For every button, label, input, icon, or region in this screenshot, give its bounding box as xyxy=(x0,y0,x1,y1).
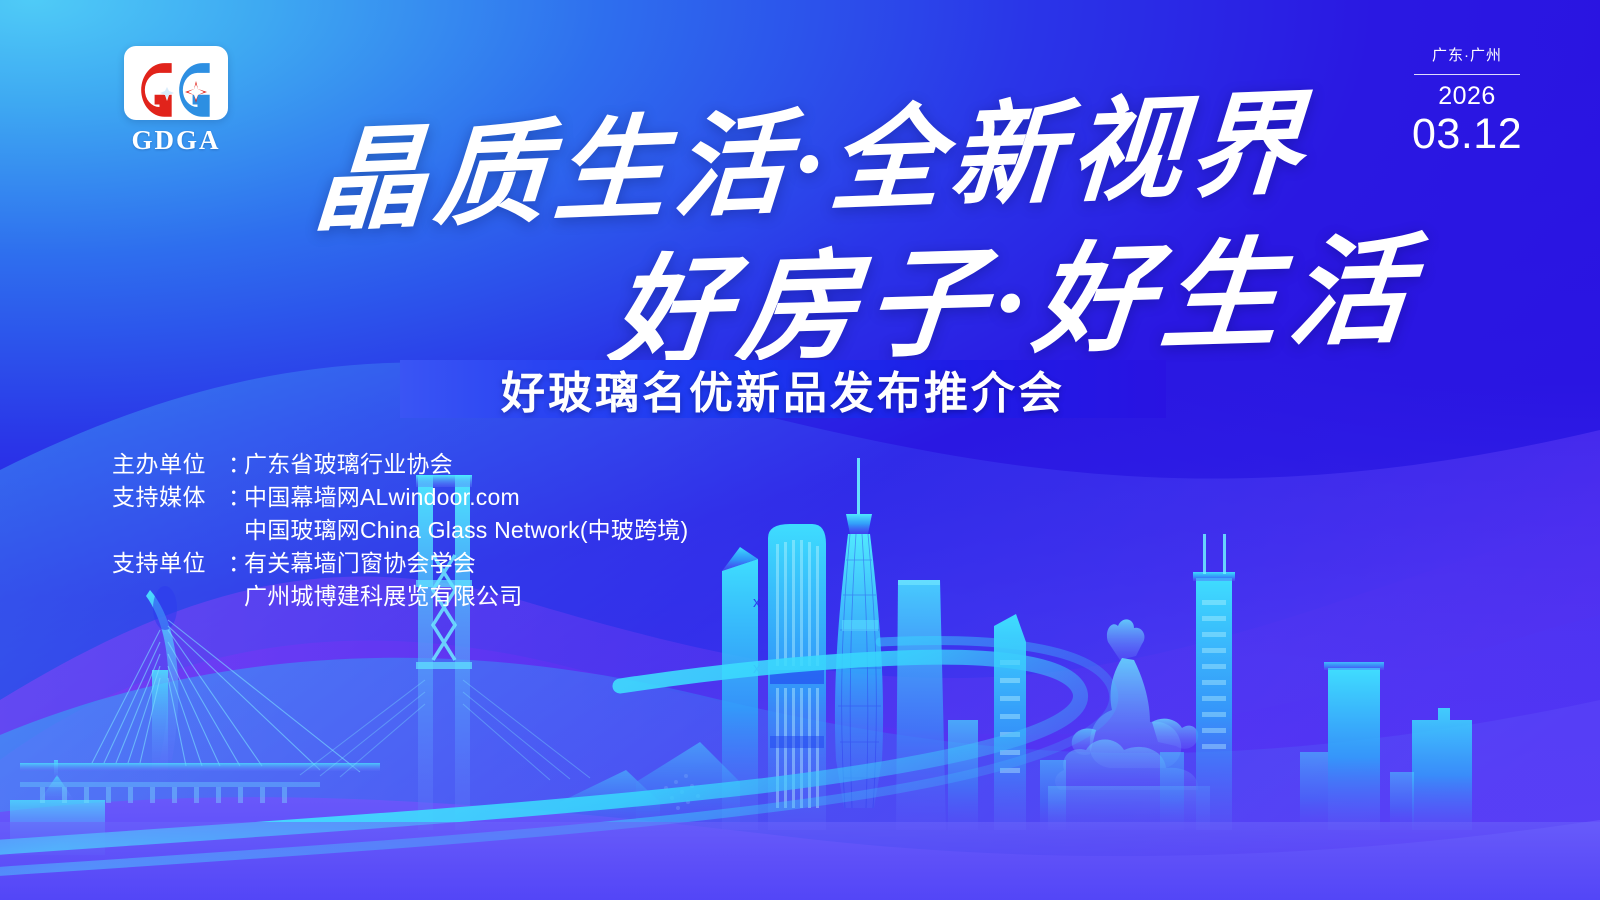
credit-colon: ： xyxy=(228,547,244,580)
subtitle-text: 好玻璃名优新品发布推介会 xyxy=(400,360,1166,418)
event-year: 2026 xyxy=(1412,84,1522,109)
organizer-credits: 主办单位 ： 广东省玻璃行业协会 支持媒体 ： 中国幕墙网ALwindoor.c… xyxy=(112,448,688,613)
event-date-block: 广东·广州 2026 03.12 xyxy=(1412,48,1522,157)
date-divider xyxy=(1414,74,1520,75)
event-location: 广东·广州 xyxy=(1412,48,1522,63)
logo-wordmark: GDGA xyxy=(86,127,266,154)
canton-tower xyxy=(835,458,883,808)
gdga-logo[interactable]: GDGA xyxy=(86,46,266,154)
five-rams-statue xyxy=(1048,619,1210,830)
credit-value: 中国幕墙网ALwindoor.com xyxy=(244,481,520,514)
gg-monogram-icon xyxy=(124,46,228,120)
credit-label: 支持单位 xyxy=(112,547,228,580)
credit-label: 主办单位 xyxy=(112,448,228,481)
svg-text:x: x xyxy=(753,594,761,611)
credit-row: 支持媒体 ： 中国幕墙网ALwindoor.com xyxy=(112,481,688,514)
credit-row: 主办单位 ： 广东省玻璃行业协会 xyxy=(112,448,688,481)
credit-value: 有关幕墙门窗协会学会 xyxy=(244,547,476,580)
credit-value: 广东省玻璃行业协会 xyxy=(244,448,453,481)
credit-row: 支持单位 ： 有关幕墙门窗协会学会 xyxy=(112,547,688,580)
credit-value: 广州城博建科展览有限公司 xyxy=(112,580,688,613)
logo-mark-card xyxy=(124,46,228,120)
poster-canvas: x x xyxy=(0,0,1600,900)
cable-stayed-bridge-left xyxy=(10,586,380,855)
event-month-day: 03.12 xyxy=(1412,112,1522,157)
credit-label: 支持媒体 xyxy=(112,481,228,514)
credit-colon: ： xyxy=(228,481,244,514)
credit-colon: ： xyxy=(228,448,244,481)
right-skyline-towers xyxy=(1160,534,1472,830)
credit-value: 中国玻璃网China Glass Network(中玻跨境) xyxy=(112,514,688,547)
